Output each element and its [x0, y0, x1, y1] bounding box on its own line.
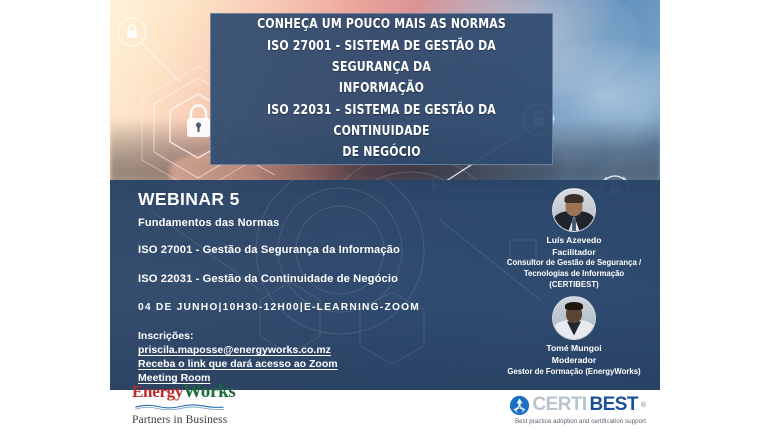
webinar-title: WEBINAR 5	[138, 189, 498, 210]
speaker-name: Tomé Mungoi	[494, 343, 654, 355]
energyworks-energy-word: Energy	[132, 382, 183, 401]
zoom-link-note-line-1[interactable]: Receba o link que dará acesso ao Zoom	[138, 358, 498, 370]
poster-artboard: CONHEÇA UM POUCO MAIS AS NORMAS ISO 2700…	[110, 0, 660, 432]
registration-email-link[interactable]: priscila.maposse@energyworks.co.mz	[138, 344, 498, 356]
speaker-name: Luís Azevedo	[494, 235, 654, 247]
certibest-logo: CERTIBEST® Best practice adoption and ce…	[468, 394, 646, 425]
registration-label: Inscrições:	[138, 330, 498, 342]
registered-trademark-icon: ®	[641, 402, 646, 409]
avatar	[552, 188, 596, 232]
energyworks-logo: EnergyWorks Partners in Business	[132, 392, 307, 426]
title-text-block: CONHEÇA UM POUCO MAIS AS NORMAS ISO 2700…	[238, 14, 526, 164]
title-line-3: INFORMAÇÃO	[238, 78, 526, 99]
speaker-description-line-3: (CERTIBEST)	[494, 280, 654, 291]
webinar-subtitle: Fundamentos das Normas	[138, 217, 498, 229]
iso-27001-line: ISO 27001 - Gestão da Segurança da Infor…	[138, 244, 498, 256]
energyworks-tagline: Partners in Business	[132, 414, 307, 426]
speaker-description-line-1: Gestor de Formação (EnergyWorks)	[494, 367, 654, 378]
speaker-card-facilitador: Luís Azevedo Facilitador Consultor de Ge…	[494, 188, 654, 290]
title-line-2: ISO 27001 - SISTEMA DE GESTÃO DA SEGURAN…	[238, 36, 526, 79]
title-line-1: CONHEÇA UM POUCO MAIS AS NORMAS	[238, 14, 526, 35]
certibest-best-word: BEST	[590, 394, 638, 416]
webinar-details: WEBINAR 5 Fundamentos das Normas ISO 270…	[138, 189, 498, 386]
title-panel: CONHEÇA UM POUCO MAIS AS NORMAS ISO 2700…	[210, 13, 553, 165]
speaker-description-line-1: Consultor de Gestão de Segurança /	[494, 258, 654, 269]
speaker-description-line-2: Tecnologias de Informação	[494, 269, 654, 280]
speaker-role: Facilitador	[494, 247, 654, 259]
iso-22031-line: ISO 22031 - Gestão da Continuidade de Ne…	[138, 273, 498, 285]
title-line-5: DE NEGÓCIO	[238, 142, 526, 163]
content-panel: WEBINAR 5 Fundamentos das Normas ISO 270…	[110, 180, 660, 390]
speaker-role: Moderador	[494, 355, 654, 367]
wave-icon	[134, 403, 225, 410]
avatar	[552, 296, 596, 340]
speaker-card-moderador: Tomé Mungoi Moderador Gestor de Formação…	[494, 296, 654, 377]
recycle-shield-icon	[509, 395, 530, 416]
title-line-4: ISO 22031 - SISTEMA DE GESTÃO DA CONTINU…	[238, 100, 526, 143]
speakers-column: Luís Azevedo Facilitador Consultor de Ge…	[494, 188, 654, 383]
energyworks-works-word: Works	[183, 381, 235, 402]
date-time-platform-line: 04 DE JUNHO|10H30-12H00|E-LEARNING-ZOOM	[138, 302, 498, 313]
certibest-tagline: Best practice adoption and certification…	[468, 418, 646, 425]
webinar-poster: CONHEÇA UM POUCO MAIS AS NORMAS ISO 2700…	[0, 0, 768, 432]
certibest-certi-word: CERTI	[533, 394, 587, 416]
footer-logos: EnergyWorks Partners in Business CERTIBE…	[110, 390, 660, 432]
